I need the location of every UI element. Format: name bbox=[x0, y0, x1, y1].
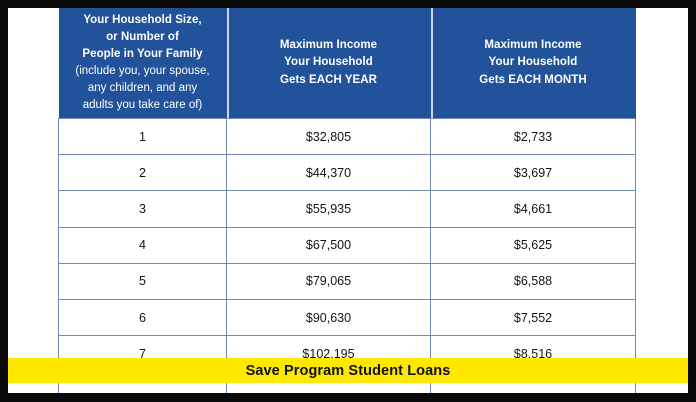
max-income-month-line-2: Your Household bbox=[437, 54, 630, 71]
max-income-month-period: EACH MONTH bbox=[508, 74, 586, 86]
income-table-container: Your Household Size, or Number of People… bbox=[58, 8, 635, 402]
table-row: 6 $90,630 $7,552 bbox=[59, 299, 636, 335]
table-row: 4 $67,500 $5,625 bbox=[59, 227, 636, 263]
cell-household-size: 2 bbox=[59, 155, 227, 191]
cell-income-year: $79,065 bbox=[227, 263, 431, 299]
household-size-note-1: (include you, your spouse, bbox=[65, 63, 221, 80]
column-header-household-size: Your Household Size, or Number of People… bbox=[59, 8, 227, 119]
table-header: Your Household Size, or Number of People… bbox=[59, 8, 636, 119]
max-income-month-line-1: Maximum Income bbox=[437, 37, 630, 54]
save-program-banner: Save Program Student Loans bbox=[8, 358, 688, 383]
max-income-year-line-2: Your Household bbox=[233, 54, 425, 71]
cell-household-size: 4 bbox=[59, 227, 227, 263]
cell-income-year: $90,630 bbox=[227, 299, 431, 335]
table-row: 1 $32,805 $2,733 bbox=[59, 119, 636, 155]
frame-border-left bbox=[0, 0, 8, 402]
screenshot-root: Your Household Size, or Number of People… bbox=[0, 0, 696, 402]
table-row: 2 $44,370 $3,697 bbox=[59, 155, 636, 191]
income-eligibility-table: Your Household Size, or Number of People… bbox=[58, 8, 636, 402]
cell-household-size: 5 bbox=[59, 263, 227, 299]
cell-income-year: $67,500 bbox=[227, 227, 431, 263]
table-row: 5 $79,065 $6,588 bbox=[59, 263, 636, 299]
cell-income-month: $4,661 bbox=[431, 191, 636, 227]
cell-income-year: $55,935 bbox=[227, 191, 431, 227]
max-income-year-line-3: Gets EACH YEAR bbox=[233, 72, 425, 89]
max-income-year-line-1: Maximum Income bbox=[233, 37, 425, 54]
cell-income-month: $6,588 bbox=[431, 263, 636, 299]
page-canvas: Your Household Size, or Number of People… bbox=[8, 8, 688, 393]
cell-household-size: 1 bbox=[59, 119, 227, 155]
max-income-year-period: EACH YEAR bbox=[309, 74, 377, 86]
frame-border-top bbox=[0, 0, 696, 8]
column-header-max-income-month: Maximum Income Your Household Gets EACH … bbox=[431, 8, 636, 119]
max-income-month-gets-label: Gets bbox=[479, 74, 508, 86]
cell-income-month: $7,552 bbox=[431, 299, 636, 335]
frame-border-bottom bbox=[0, 393, 696, 402]
header-row: Your Household Size, or Number of People… bbox=[59, 8, 636, 119]
table-row: 3 $55,935 $4,661 bbox=[59, 191, 636, 227]
household-size-line-2: or Number of bbox=[65, 29, 221, 46]
household-size-note-2: any children, and any bbox=[65, 80, 221, 97]
column-header-max-income-year: Maximum Income Your Household Gets EACH … bbox=[227, 8, 431, 119]
cell-household-size: 3 bbox=[59, 191, 227, 227]
cell-income-month: $2,733 bbox=[431, 119, 636, 155]
cell-income-year: $32,805 bbox=[227, 119, 431, 155]
banner-label: Save Program Student Loans bbox=[246, 363, 451, 379]
household-size-note-3: adults you take care of) bbox=[65, 97, 221, 114]
household-size-line-1: Your Household Size, bbox=[65, 12, 221, 29]
cell-household-size: 6 bbox=[59, 299, 227, 335]
household-size-line-3: People in Your Family bbox=[65, 46, 221, 63]
cell-income-year: $44,370 bbox=[227, 155, 431, 191]
frame-border-right bbox=[688, 0, 696, 402]
cell-income-month: $5,625 bbox=[431, 227, 636, 263]
max-income-month-line-3: Gets EACH MONTH bbox=[437, 72, 630, 89]
cell-income-month: $3,697 bbox=[431, 155, 636, 191]
max-income-year-gets-label: Gets bbox=[280, 74, 309, 86]
